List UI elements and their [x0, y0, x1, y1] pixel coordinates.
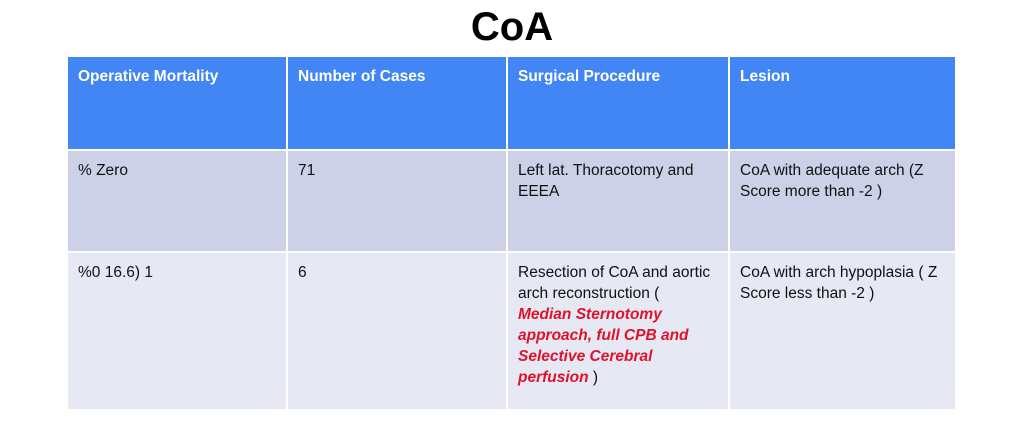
column-header-number-of-cases: Number of Cases	[288, 57, 508, 151]
table-row: %0 16.6) 1 6 Resection of CoA and aortic…	[68, 253, 955, 409]
cell-surgical-procedure: Resection of CoA and aortic arch reconst…	[508, 253, 730, 409]
page-title: CoA	[0, 4, 1024, 50]
cell-lesion: CoA with arch hypoplasia ( Z Score less …	[730, 253, 955, 409]
cell-operative-mortality: %0 16.6) 1	[68, 253, 288, 409]
surgical-procedure-text: Resection of CoA and aortic arch reconst…	[518, 264, 710, 302]
column-header-lesion: Lesion	[730, 57, 955, 151]
cell-number-of-cases: 71	[288, 151, 508, 253]
cell-operative-mortality: % Zero	[68, 151, 288, 253]
cell-number-of-cases: 6	[288, 253, 508, 409]
column-header-operative-mortality: Operative Mortality	[68, 57, 288, 151]
cell-lesion: CoA with adequate arch (Z Score more tha…	[730, 151, 955, 253]
table-body: % Zero 71 Left lat. Thoracotomy and EEEA…	[68, 151, 955, 409]
surgical-procedure-text: Left lat. Thoracotomy and EEEA	[518, 160, 716, 202]
surgical-procedure-highlight-note: Median Sternotomy approach, full CPB and…	[518, 306, 689, 386]
cell-surgical-procedure: Left lat. Thoracotomy and EEEA	[508, 151, 730, 253]
note-open-paren: (	[654, 285, 659, 302]
slide-canvas: CoA Operative Mortality Number of Cases …	[0, 0, 1024, 440]
data-table: Operative Mortality Number of Cases Surg…	[68, 57, 955, 409]
data-table-container: Operative Mortality Number of Cases Surg…	[68, 57, 955, 417]
table-header-row: Operative Mortality Number of Cases Surg…	[68, 57, 955, 151]
table-header: Operative Mortality Number of Cases Surg…	[68, 57, 955, 151]
note-close-paren: )	[589, 369, 598, 386]
table-row: % Zero 71 Left lat. Thoracotomy and EEEA…	[68, 151, 955, 253]
column-header-surgical-procedure: Surgical Procedure	[508, 57, 730, 151]
